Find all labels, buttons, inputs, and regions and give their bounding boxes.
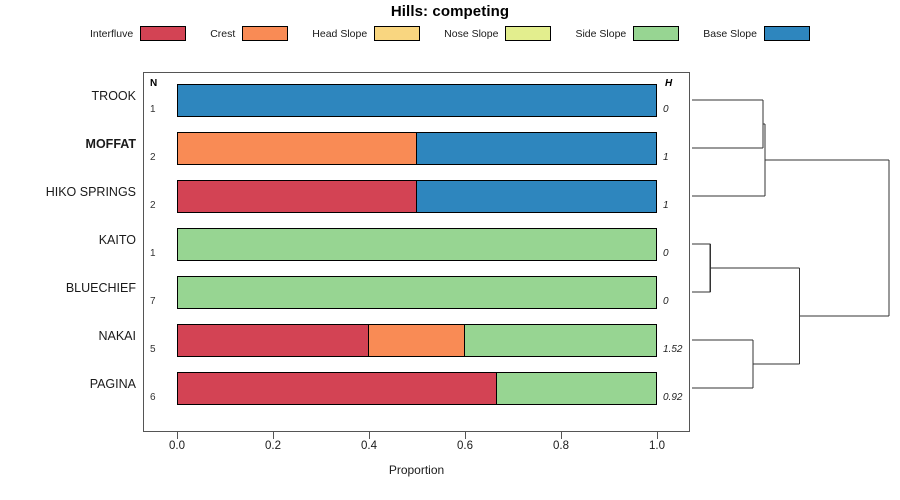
legend-swatch	[764, 26, 810, 41]
row-h-value: 1	[663, 152, 669, 163]
stacked-bar	[177, 228, 657, 261]
row-h-value: 0.92	[663, 392, 682, 403]
x-axis-tick-label: 0.4	[361, 440, 377, 452]
stacked-bar	[177, 276, 657, 309]
x-axis-tick	[369, 432, 370, 439]
legend-swatch	[242, 26, 288, 41]
row-n-value: 6	[150, 392, 156, 403]
x-axis-tick-label: 0.0	[169, 440, 185, 452]
x-axis-tick-label: 0.6	[457, 440, 473, 452]
x-axis-tick	[657, 432, 658, 439]
row-h-value: 1	[663, 200, 669, 211]
bar-segment	[417, 181, 656, 212]
row-h-value: 0	[663, 296, 669, 307]
legend-item: Nose Slope	[444, 26, 575, 41]
row-label: MOFFAT	[0, 137, 136, 151]
row-n-value: 1	[150, 104, 156, 115]
legend-label: Nose Slope	[444, 28, 505, 40]
bar-segment	[465, 325, 656, 356]
stacked-bar	[177, 372, 657, 405]
stacked-bar	[177, 132, 657, 165]
x-axis-ticks	[143, 432, 690, 440]
dendrogram	[690, 72, 900, 432]
chart-root: Hills: competing InterfluveCrestHead Slo…	[0, 0, 900, 500]
row-h-value: 0	[663, 104, 669, 115]
x-axis-tick-label: 0.2	[265, 440, 281, 452]
x-axis-tick-label: 0.8	[553, 440, 569, 452]
row-h-value: 0	[663, 248, 669, 259]
legend-item: Base Slope	[703, 26, 810, 41]
row-label: BLUECHIEF	[0, 281, 136, 295]
row-label: PAGINA	[0, 377, 136, 391]
legend-item: Head Slope	[312, 26, 444, 41]
legend-label: Head Slope	[312, 28, 374, 40]
x-axis-title: Proportion	[143, 463, 690, 477]
bar-segment	[178, 85, 656, 116]
legend-item: Interfluve	[90, 26, 210, 41]
x-axis-tick	[177, 432, 178, 439]
row-n-value: 2	[150, 200, 156, 211]
legend-label: Side Slope	[575, 28, 633, 40]
row-label: HIKO SPRINGS	[0, 185, 136, 199]
legend-label: Interfluve	[90, 28, 140, 40]
legend-swatch	[140, 26, 186, 41]
row-n-value: 7	[150, 296, 156, 307]
stacked-bar	[177, 324, 657, 357]
legend-item: Side Slope	[575, 26, 703, 41]
legend-label: Crest	[210, 28, 242, 40]
legend-swatch	[633, 26, 679, 41]
bar-segment	[178, 181, 417, 212]
x-axis-tick	[465, 432, 466, 439]
bar-segment	[369, 325, 465, 356]
row-label: TROOK	[0, 89, 136, 103]
row-label: KAITO	[0, 233, 136, 247]
bar-segment	[178, 325, 369, 356]
legend-item: Crest	[210, 26, 312, 41]
x-axis-tick	[561, 432, 562, 439]
stacked-bar	[177, 84, 657, 117]
legend-swatch	[505, 26, 551, 41]
row-h-value: 1.52	[663, 344, 682, 355]
chart-title: Hills: competing	[0, 3, 900, 20]
legend-label: Base Slope	[703, 28, 764, 40]
bar-segment	[497, 373, 656, 404]
row-n-value: 2	[150, 152, 156, 163]
legend-swatch	[374, 26, 420, 41]
x-axis-tick	[273, 432, 274, 439]
x-axis-tick-label: 1.0	[649, 440, 665, 452]
bar-segment	[178, 373, 497, 404]
row-n-value: 5	[150, 344, 156, 355]
bar-segment	[417, 133, 656, 164]
row-n-value: 1	[150, 248, 156, 259]
legend: InterfluveCrestHead SlopeNose SlopeSide …	[0, 26, 900, 41]
row-label: NAKAI	[0, 329, 136, 343]
bar-segment	[178, 277, 656, 308]
bar-segment	[178, 229, 656, 260]
bar-segment	[178, 133, 417, 164]
stacked-bar	[177, 180, 657, 213]
